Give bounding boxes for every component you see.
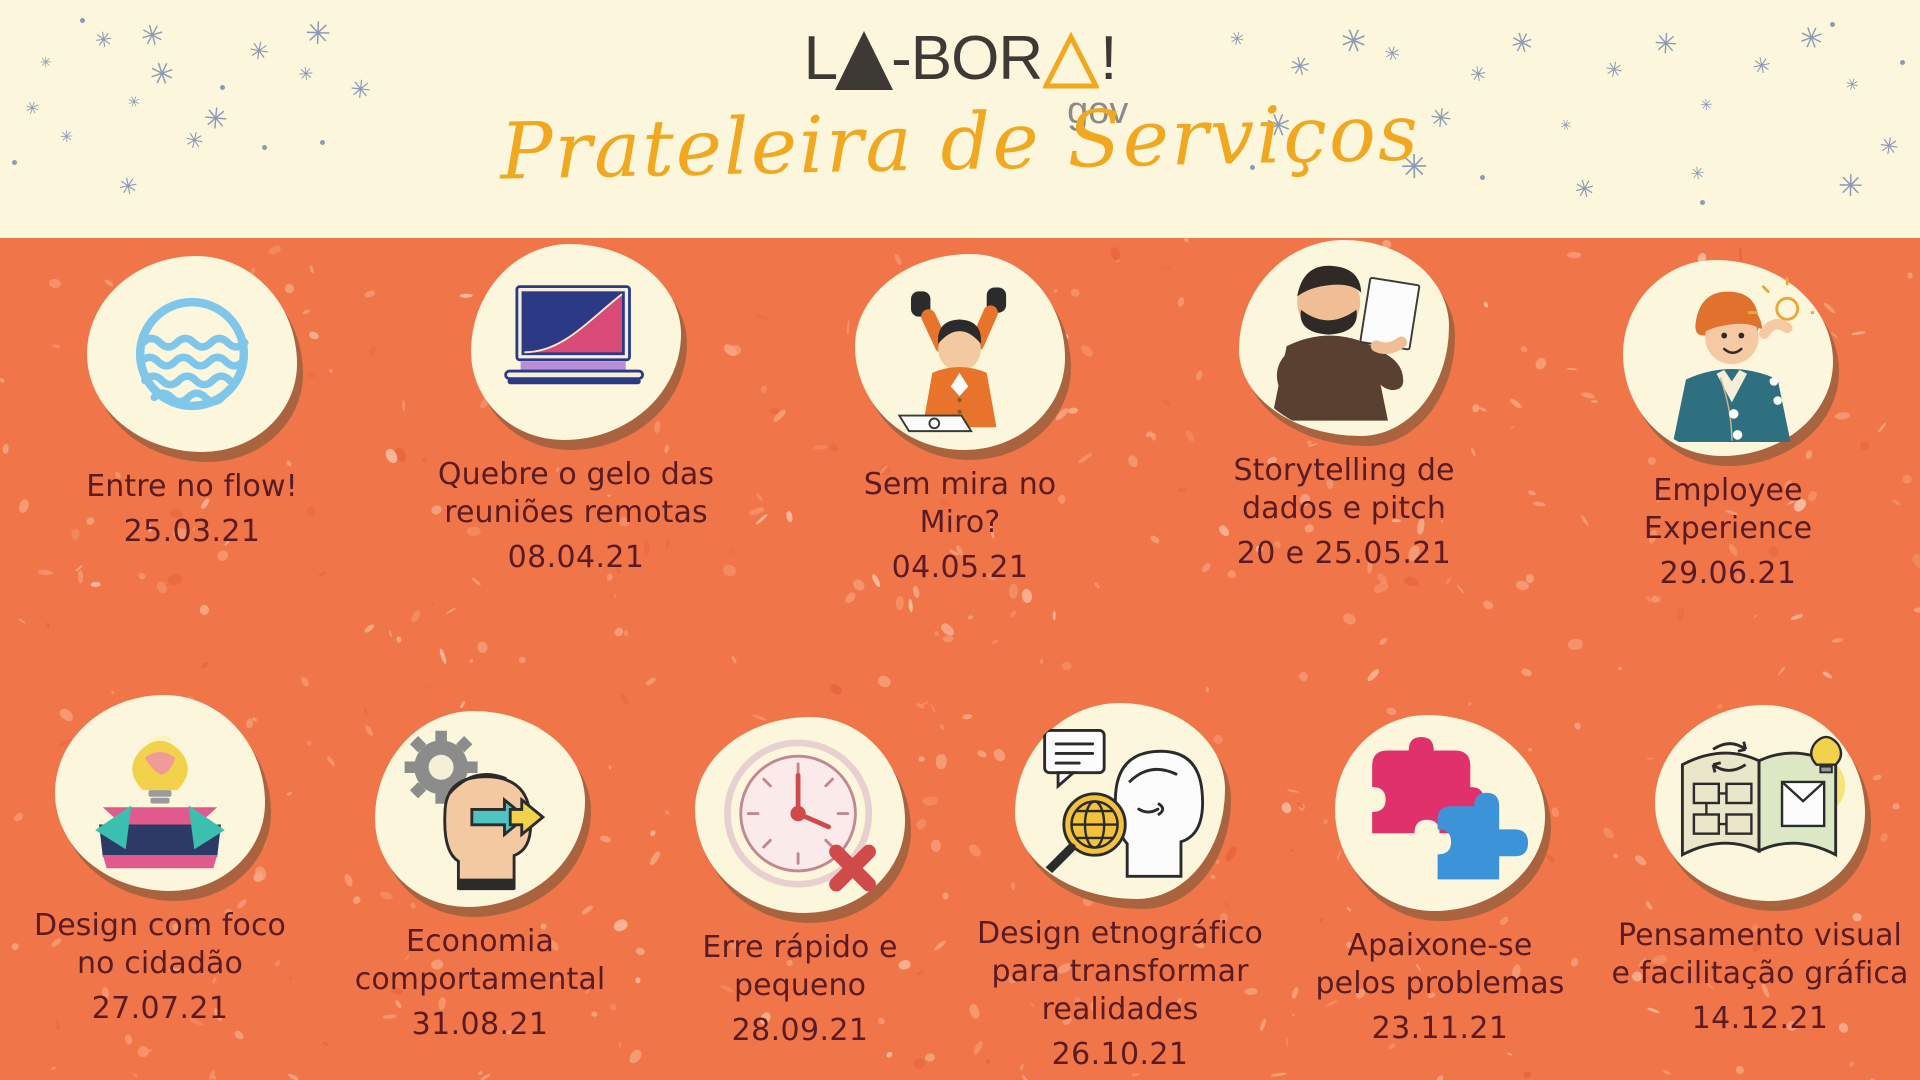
service-card[interactable]: Entre no flow!25.03.21 [0,238,384,659]
star-dot-icon [80,18,85,23]
service-card-title: Design etnográficopara transformarrealid… [977,915,1263,1029]
service-card-date: 29.06.21 [1660,556,1797,591]
service-card-blob [1335,715,1545,911]
star-icon: ✳ [304,18,331,50]
service-card-date: 25.03.21 [124,514,261,549]
service-card-date: 28.09.21 [732,1013,869,1048]
star-icon: ✳ [1287,53,1313,82]
service-card-title: Erre rápido epequeno [702,929,897,1005]
service-card[interactable]: Erre rápido epequeno28.09.21 [640,659,960,1080]
star-icon: ✳ [23,98,42,119]
star-icon: ✳ [37,53,55,71]
service-card-date: 20 e 25.05.21 [1237,536,1452,571]
triangle-dark-icon [835,31,893,90]
star-icon: ✳ [349,77,372,104]
star-icon: ✳ [1226,27,1248,50]
star-icon: ✳ [1603,58,1625,82]
header-banner: ✳✳✳✳✳✳✳✳✳✳✳✳✳✳✳✳✳✳✳✳✳✳✳✳✳✳✳✳✳✳✳✳✳✳ L -BO… [0,0,1920,238]
star-icon: ✳ [1572,176,1598,204]
clock-cross-icon [695,717,905,913]
star-icon: ✳ [1469,64,1489,86]
open-book-icon [1655,705,1865,901]
service-card-blob [55,695,265,891]
service-card[interactable]: Economiacomportamental31.08.21 [320,659,640,1080]
service-card-title: Quebre o gelo dasreuniões remotas [438,456,714,532]
logo-text-bora: -BOR [891,28,1042,90]
star-icon: ✳ [1505,26,1538,60]
service-card-title: Apaixone-sepelos problemas [1316,927,1565,1003]
service-card-title: Pensamento visuale facilitação gráfica [1612,917,1909,993]
star-dot-icon [220,85,225,90]
celebrating-person-icon [855,254,1065,450]
service-card[interactable]: Pensamento visuale facilitação gráfica14… [1600,659,1920,1080]
service-card-blob [87,256,297,452]
services-row-1: Entre no flow!25.03.21 Quebre o gelo das… [0,238,1920,659]
service-card-blob [695,717,905,913]
service-card[interactable]: Design etnográficopara transformarrealid… [960,659,1280,1080]
service-card-blob [1623,260,1833,456]
service-card-date: 08.04.21 [508,540,645,575]
services-row-2: Design com focono cidadão27.07.21 Econom… [0,659,1920,1080]
service-card-title: Entre no flow! [86,468,298,506]
service-card[interactable]: Storytelling dedados e pitch20 e 25.05.2… [1152,238,1536,659]
service-card-date: 27.07.21 [92,991,229,1026]
service-card-blob [375,711,585,907]
service-card-date: 31.08.21 [412,1007,549,1042]
service-card-title: Economiacomportamental [355,923,606,999]
logo-text-la: L [804,28,837,90]
triangle-outline-icon [1043,32,1099,90]
star-icon: ✳ [1796,22,1829,58]
service-card-title: Sem mira noMiro? [864,466,1057,542]
service-card[interactable]: Design com focono cidadão27.07.21 [0,659,320,1080]
service-card[interactable]: Quebre o gelo dasreuniões remotas08.04.2… [384,238,768,659]
star-icon: ✳ [245,36,275,67]
service-card-date: 26.10.21 [1052,1037,1189,1072]
service-card-blob [471,244,681,440]
service-card-title: EmployeeExperience [1644,472,1812,548]
logo-wordmark: L -BOR ! [804,28,1117,90]
star-dot-icon [1830,22,1835,27]
logo-text-exclaim: ! [1100,28,1116,90]
star-dot-icon [1900,60,1905,65]
service-card-title: Storytelling dedados e pitch [1233,452,1454,528]
service-card-blob [855,254,1065,450]
star-dot-icon [1700,200,1705,205]
lightbulb-box-icon [55,695,265,891]
star-icon: ✳ [1335,21,1372,61]
service-card-date: 23.11.21 [1372,1011,1509,1046]
page-title: Prateleira de Serviços [0,78,1920,208]
service-card-blob [1015,703,1225,899]
star-icon: ✳ [294,62,317,85]
flow-waves-icon [87,256,297,452]
star-icon: ✳ [1649,26,1685,63]
service-card[interactable]: Sem mira noMiro?04.05.21 [768,238,1152,659]
services-shelf: Entre no flow!25.03.21 Quebre o gelo das… [0,238,1920,1080]
labora-gov-logo: L -BOR ! gov [0,28,1920,90]
star-icon: ✳ [94,29,114,52]
star-icon: ✳ [1381,42,1404,66]
star-icon: ✳ [146,57,180,94]
star-icon: ✳ [135,18,169,54]
service-card-title: Design com focono cidadão [34,907,286,983]
service-card-date: 04.05.21 [892,550,1029,585]
service-card[interactable]: Apaixone-sepelos problemas23.11.21 [1280,659,1600,1080]
service-card[interactable]: EmployeeExperience29.06.21 [1536,238,1920,659]
star-icon: ✳ [125,93,143,112]
service-card-blob [1239,240,1449,436]
service-card-blob [1655,705,1865,901]
service-card-date: 14.12.21 [1692,1001,1829,1036]
services-grid: Entre no flow!25.03.21 Quebre o gelo das… [0,238,1920,1080]
star-icon: ✳ [1838,172,1864,202]
star-icon: ✳ [1747,52,1774,80]
